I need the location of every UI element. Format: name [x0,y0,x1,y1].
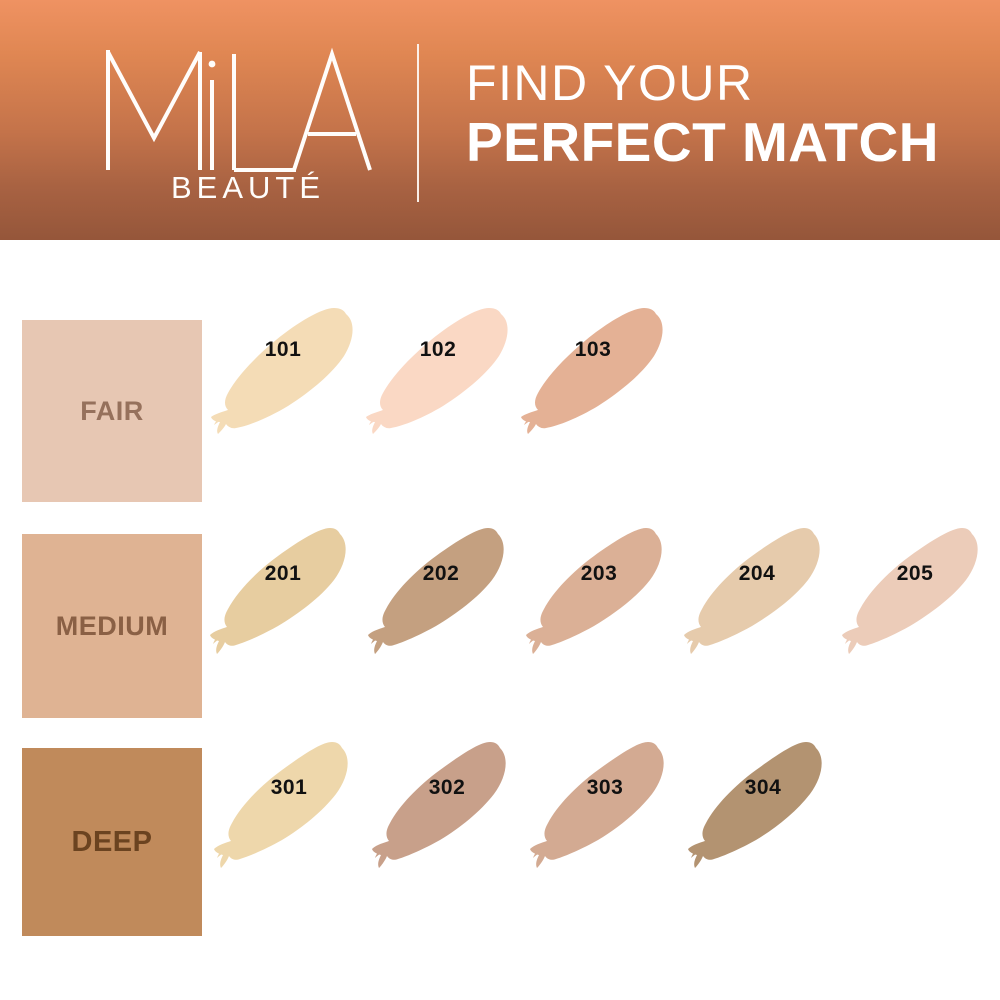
shade-swatch-102[interactable]: 102 [361,300,519,450]
shade-swatch-205[interactable]: 205 [838,518,996,668]
header-banner: BEAUTÉ FIND YOUR PERFECT MATCH [0,0,1000,240]
shade-row-deep: DEEP 301 302 [0,732,1000,932]
shade-code-103: 103 [516,300,674,450]
headline: FIND YOUR PERFECT MATCH [466,56,986,172]
shade-code-301: 301 [212,732,370,882]
shade-chart: FAIR 101 102 [0,240,1000,1000]
shade-code-201: 201 [206,518,364,668]
shade-finder-page: BEAUTÉ FIND YOUR PERFECT MATCH FAIR 101 [0,0,1000,1000]
shade-swatch-204[interactable]: 204 [680,518,838,668]
shade-swatch-203[interactable]: 203 [522,518,680,668]
brand-logo: BEAUTÉ [100,42,400,202]
shade-code-203: 203 [522,518,680,668]
category-label-fair: FAIR [80,396,144,427]
header-divider [417,44,419,202]
category-tile-medium[interactable]: MEDIUM [22,534,202,718]
shade-swatch-101[interactable]: 101 [206,300,364,450]
shade-row-medium: MEDIUM 201 202 [0,518,1000,718]
shade-code-205: 205 [838,518,996,668]
shade-swatch-201[interactable]: 201 [206,518,364,668]
category-tile-deep[interactable]: DEEP [22,748,202,936]
shade-code-101: 101 [206,300,364,450]
shade-swatch-304[interactable]: 304 [686,732,844,882]
swatch-group-fair: 101 102 103 [206,300,1000,500]
category-label-medium: MEDIUM [56,611,169,642]
swatch-group-deep: 301 302 303 [206,732,1000,932]
swatch-group-medium: 201 202 203 [206,518,1000,718]
shade-code-204: 204 [680,518,838,668]
shade-swatch-103[interactable]: 103 [516,300,674,450]
category-tile-fair[interactable]: FAIR [22,320,202,502]
svg-text:BEAUTÉ: BEAUTÉ [171,170,325,202]
shade-swatch-301[interactable]: 301 [212,732,370,882]
shade-code-304: 304 [686,732,844,882]
shade-code-202: 202 [364,518,522,668]
category-label-deep: DEEP [72,826,153,859]
shade-code-303: 303 [528,732,686,882]
shade-swatch-303[interactable]: 303 [528,732,686,882]
headline-line-2: PERFECT MATCH [466,112,986,172]
shade-row-fair: FAIR 101 102 [0,300,1000,500]
headline-line-1: FIND YOUR [466,56,986,110]
shade-code-102: 102 [361,300,519,450]
shade-code-302: 302 [370,732,528,882]
shade-swatch-302[interactable]: 302 [370,732,528,882]
shade-swatch-202[interactable]: 202 [364,518,522,668]
